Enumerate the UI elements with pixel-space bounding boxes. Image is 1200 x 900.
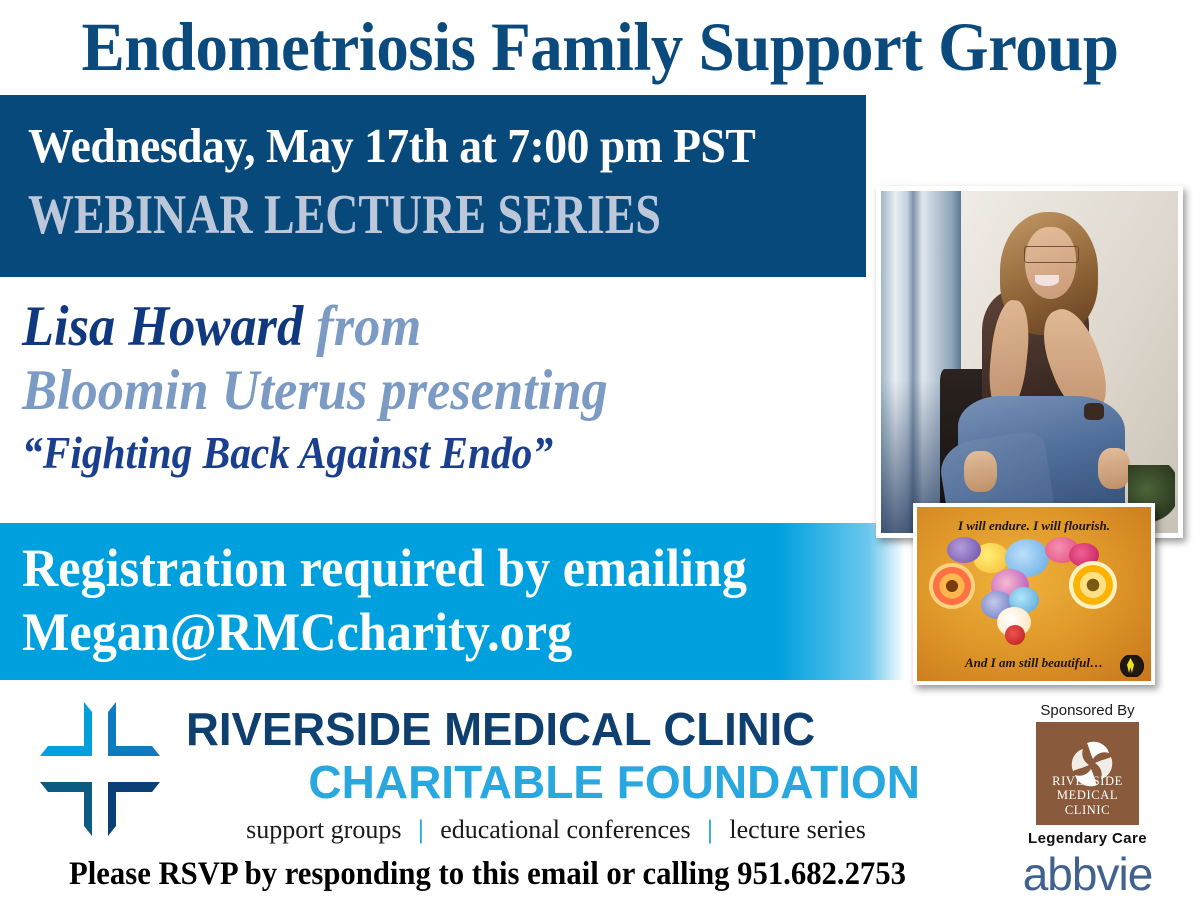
flower-petal — [947, 537, 981, 563]
speaker-from-word: from — [316, 295, 421, 358]
flower-artwork: I will endure. I will flourish. And I am… — [913, 503, 1155, 685]
speaker-photo — [876, 186, 1183, 538]
photo-hand-left — [964, 451, 997, 492]
registration-email: Megan@RMCcharity.org — [22, 601, 572, 663]
sponsor-brand-line1: RIVERSIDE — [1036, 774, 1139, 789]
tagline-divider: | — [697, 815, 723, 844]
speaker-talk-title: “Fighting Back Against Endo” — [22, 424, 721, 482]
photo-watch — [1084, 403, 1103, 420]
foundation-wordmark: RIVERSIDE MEDICAL CLINIC CHARITABLE FOUN… — [186, 703, 926, 809]
event-datetime: Wednesday, May 17th at 7:00 pm PST — [28, 117, 755, 174]
service-educational-conferences: educational conferences — [440, 815, 690, 844]
event-banner: Wednesday, May 17th at 7:00 pm PST WEBIN… — [0, 95, 866, 277]
speaker-block: Lisa Howard from Bloomin Uterus presenti… — [22, 296, 782, 482]
speaker-organization: Bloomin Uterus presenting — [22, 358, 721, 424]
flower-petal — [1005, 625, 1025, 645]
foundation-name-line1: RIVERSIDE MEDICAL CLINIC — [186, 703, 919, 755]
photo-hand-right — [1098, 448, 1131, 489]
tagline-divider: | — [408, 815, 434, 844]
logo-quadrant-bottom-left — [40, 776, 92, 838]
foundation-logo-mark — [40, 700, 160, 838]
logo-quadrant-top-left — [40, 700, 92, 762]
flyer-canvas: Endometriosis Family Support Group Wedne… — [0, 0, 1200, 900]
logo-quadrant-bottom-right — [108, 776, 160, 838]
rsvp-line: Please RSVP by responding to this email … — [34, 856, 941, 893]
speaker-name-line: Lisa Howard from — [22, 296, 721, 358]
floral-uterus-shape — [917, 529, 1151, 647]
sponsor-brand-line3: CLINIC — [1036, 803, 1139, 818]
flower-petal — [929, 563, 975, 609]
services-tagline: support groups | educational conferences… — [186, 815, 926, 845]
flower-petal — [1069, 561, 1117, 609]
flower-artwork-image: I will endure. I will flourish. And I am… — [917, 507, 1151, 681]
sponsor-brand-text: RIVERSIDE MEDICAL CLINIC — [1036, 774, 1139, 818]
sponsor-slogan: Legendary Care — [985, 830, 1190, 847]
logo-quadrant-top-right — [108, 700, 160, 762]
flower-bottom-text: And I am still beautiful… — [917, 655, 1151, 671]
service-support-groups: support groups — [246, 815, 401, 844]
sponsored-by-label: Sponsored By — [985, 702, 1190, 719]
sponsor-brand-line2: MEDICAL — [1036, 788, 1139, 803]
event-series-label: WEBINAR LECTURE SERIES — [28, 183, 661, 247]
registration-banner: Registration required by emailing Megan@… — [0, 523, 905, 680]
foundation-name-line2: CHARITABLE FOUNDATION — [186, 755, 926, 809]
photo-glasses — [1024, 246, 1079, 263]
speaker-photo-image — [881, 191, 1178, 533]
page-title: Endometriosis Family Support Group — [36, 2, 1164, 92]
speaker-name: Lisa Howard — [22, 295, 303, 358]
abbvie-logo: abbvie — [985, 849, 1190, 899]
sponsor-block: Sponsored By RIVERSIDE MEDICAL CLINIC Le… — [985, 702, 1190, 899]
sponsor-logo: RIVERSIDE MEDICAL CLINIC — [1036, 722, 1139, 825]
photo-smile — [1035, 275, 1059, 286]
registration-instruction: Registration required by emailing — [22, 537, 747, 599]
awareness-ribbon-icon — [1119, 655, 1145, 677]
service-lecture-series: lecture series — [729, 815, 865, 844]
